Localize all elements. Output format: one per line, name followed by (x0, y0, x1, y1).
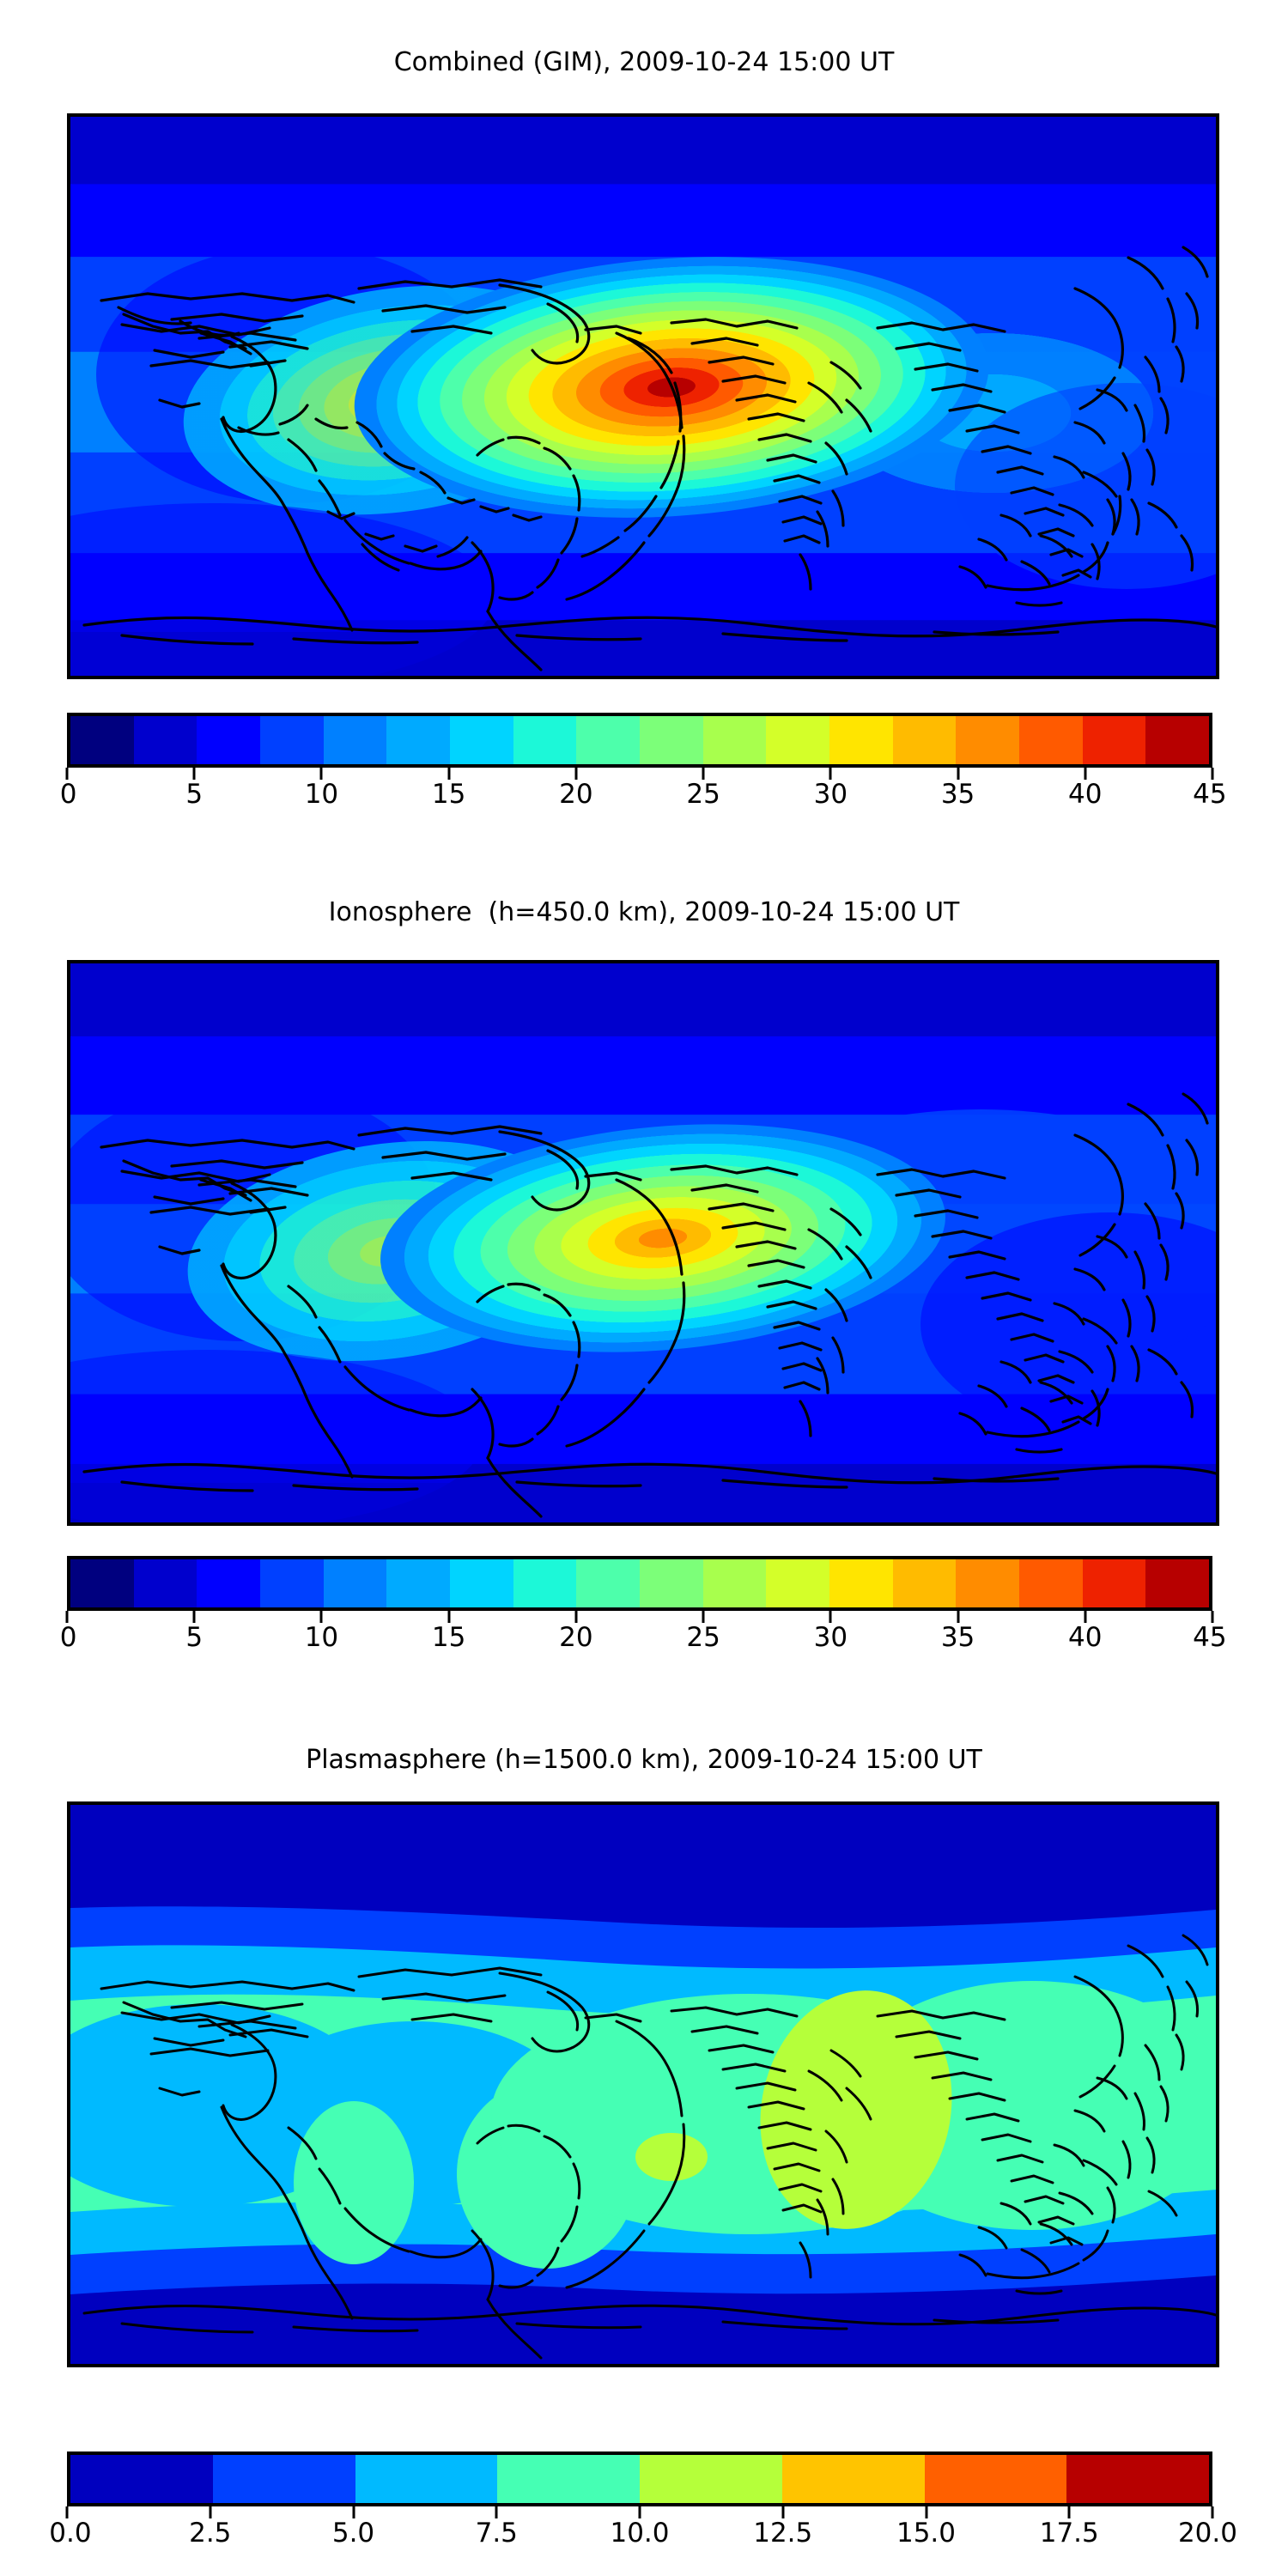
colorbar-plasmasphere: 0.02.55.07.510.012.515.017.520.0 (67, 2451, 1212, 2553)
colorbar-band (956, 716, 1019, 764)
colorbar-tick-label: 45 (1193, 780, 1226, 809)
colorbar-tick-label: 35 (941, 780, 975, 809)
colorbar-ionosphere-ticks (67, 1611, 1212, 1623)
colorbar-band (576, 716, 640, 764)
colorbar-tick-label: 15 (432, 780, 465, 809)
colorbar-tick-label: 40 (1068, 1623, 1102, 1652)
colorbar-band (324, 1559, 387, 1607)
colorbar-ionosphere: 051015202530354045 (67, 1556, 1212, 1657)
colorbar-band (640, 716, 703, 764)
colorbar-tick (495, 2506, 498, 2518)
panel-ionosphere: Ionosphere (h=450.0 km), 2009-10-24 15:0… (0, 850, 1288, 1709)
map-combined (67, 113, 1219, 679)
colorbar-tick (1212, 1611, 1214, 1623)
map-combined-svg (70, 117, 1216, 676)
colorbar-tick (352, 2506, 355, 2518)
colorbar-tick (957, 768, 959, 780)
colorbar-tick-label: 10.0 (610, 2518, 669, 2548)
colorbar-band (70, 716, 134, 764)
colorbar-band (513, 1559, 577, 1607)
panel-combined: Combined (GIM), 2009-10-24 15:00 UT (0, 0, 1288, 859)
colorbar-band (324, 716, 387, 764)
colorbar-tick (1084, 1611, 1086, 1623)
colorbar-band (386, 1559, 450, 1607)
colorbar-band (576, 1559, 640, 1607)
contour-field-plasmasphere (70, 1805, 1216, 2364)
colorbar-tick-label: 0 (60, 1623, 77, 1652)
colorbar-tick-label: 20.0 (1178, 2518, 1237, 2548)
panel-title-plasmasphere: Plasmasphere (h=1500.0 km), 2009-10-24 1… (0, 1747, 1288, 1773)
colorbar-band (513, 716, 577, 764)
colorbar-combined-ticks (67, 768, 1212, 780)
colorbar-band (1145, 716, 1209, 764)
colorbar-band (70, 1559, 134, 1607)
colorbar-tick (957, 1611, 959, 1623)
colorbar-tick-label: 0 (60, 780, 77, 809)
colorbar-tick (574, 768, 577, 780)
colorbar-band (893, 716, 957, 764)
colorbar-band (925, 2455, 1067, 2503)
colorbar-band (956, 1559, 1019, 1607)
colorbar-combined-bands (67, 713, 1212, 768)
map-ionosphere (67, 960, 1219, 1526)
colorbar-tick-label: 5.0 (332, 2518, 374, 2548)
colorbar-band (766, 716, 829, 764)
colorbar-band (703, 716, 767, 764)
colorbar-tick-label: 2.5 (189, 2518, 231, 2548)
colorbar-band (260, 716, 324, 764)
colorbar-tick-label: 15 (432, 1623, 465, 1652)
colorbar-tick-label: 20 (559, 780, 592, 809)
colorbar-tick (702, 768, 705, 780)
colorbar-tick (1212, 2506, 1214, 2518)
colorbar-plasmasphere-labels: 0.02.55.07.510.012.515.017.520.0 (67, 2518, 1212, 2553)
colorbar-tick (781, 2506, 784, 2518)
colorbar-tick (1068, 2506, 1071, 2518)
colorbar-band (1145, 1559, 1209, 1607)
panel-title-combined: Combined (GIM), 2009-10-24 15:00 UT (0, 50, 1288, 76)
colorbar-tick (320, 768, 323, 780)
colorbar-tick-label: 25 (686, 780, 720, 809)
colorbar-tick (1084, 768, 1086, 780)
colorbar-tick (1212, 768, 1214, 780)
colorbar-band (829, 716, 893, 764)
colorbar-tick-label: 10 (305, 780, 338, 809)
colorbar-band (213, 2455, 355, 2503)
colorbar-tick-label: 30 (814, 1623, 848, 1652)
contour-field-combined (70, 117, 1216, 676)
panel-title-ionosphere: Ionosphere (h=450.0 km), 2009-10-24 15:0… (0, 900, 1288, 926)
colorbar-band (782, 2455, 925, 2503)
colorbar-tick-label: 5 (185, 780, 203, 809)
colorbar-band (450, 1559, 513, 1607)
colorbar-tick-label: 45 (1193, 1623, 1226, 1652)
map-plasmasphere-svg (70, 1805, 1216, 2364)
panel-plasmasphere: Plasmasphere (h=1500.0 km), 2009-10-24 1… (0, 1700, 1288, 2576)
colorbar-tick (193, 768, 196, 780)
colorbar-tick-label: 12.5 (753, 2518, 812, 2548)
colorbar-tick-label: 10 (305, 1623, 338, 1652)
colorbar-tick (209, 2506, 211, 2518)
colorbar-tick (66, 768, 69, 780)
colorbar-ionosphere-bands (67, 1556, 1212, 1611)
colorbar-tick (447, 1611, 450, 1623)
colorbar-tick-label: 15.0 (896, 2518, 956, 2548)
colorbar-ionosphere-labels: 051015202530354045 (67, 1623, 1212, 1657)
colorbar-tick-label: 25 (686, 1623, 720, 1652)
colorbar-tick-label: 17.5 (1040, 2518, 1099, 2548)
colorbar-band (197, 716, 260, 764)
colorbar-tick (829, 768, 832, 780)
colorbar-tick (925, 2506, 927, 2518)
contour-field-ionosphere (70, 963, 1216, 1522)
colorbar-tick-label: 30 (814, 780, 848, 809)
colorbar-band (1019, 1559, 1083, 1607)
colorbar-band (640, 1559, 703, 1607)
colorbar-tick (66, 1611, 69, 1623)
colorbar-tick-label: 0.0 (49, 2518, 91, 2548)
colorbar-tick (66, 2506, 69, 2518)
colorbar-combined-labels: 051015202530354045 (67, 780, 1212, 814)
colorbar-tick (320, 1611, 323, 1623)
colorbar-band (703, 1559, 767, 1607)
colorbar-plasmasphere-ticks (67, 2506, 1212, 2518)
colorbar-band (134, 716, 197, 764)
colorbar-band (197, 1559, 260, 1607)
colorbar-band (70, 2455, 213, 2503)
colorbar-band (829, 1559, 893, 1607)
colorbar-band (893, 1559, 957, 1607)
colorbar-tick-label: 5 (185, 1623, 203, 1652)
colorbar-plasmasphere-bands (67, 2451, 1212, 2506)
colorbar-band (1019, 716, 1083, 764)
colorbar-band (450, 716, 513, 764)
colorbar-tick (639, 2506, 641, 2518)
colorbar-tick-label: 40 (1068, 780, 1102, 809)
colorbar-tick (447, 768, 450, 780)
colorbar-tick (193, 1611, 196, 1623)
colorbar-band (1083, 716, 1146, 764)
colorbar-tick (702, 1611, 705, 1623)
colorbar-band (766, 1559, 829, 1607)
colorbar-band (355, 2455, 498, 2503)
colorbar-band (134, 1559, 197, 1607)
colorbar-tick-label: 20 (559, 1623, 592, 1652)
figure-canvas: Combined (GIM), 2009-10-24 15:00 UT (0, 0, 1288, 2576)
colorbar-tick (574, 1611, 577, 1623)
colorbar-combined: 051015202530354045 (67, 713, 1212, 814)
colorbar-band (497, 2455, 640, 2503)
colorbar-band (1083, 1559, 1146, 1607)
colorbar-band (260, 1559, 324, 1607)
colorbar-tick-label: 7.5 (476, 2518, 518, 2548)
map-ionosphere-svg (70, 963, 1216, 1522)
colorbar-band (1066, 2455, 1209, 2503)
colorbar-band (386, 716, 450, 764)
map-plasmasphere (67, 1801, 1219, 2367)
colorbar-tick (829, 1611, 832, 1623)
colorbar-tick-label: 35 (941, 1623, 975, 1652)
colorbar-band (640, 2455, 782, 2503)
